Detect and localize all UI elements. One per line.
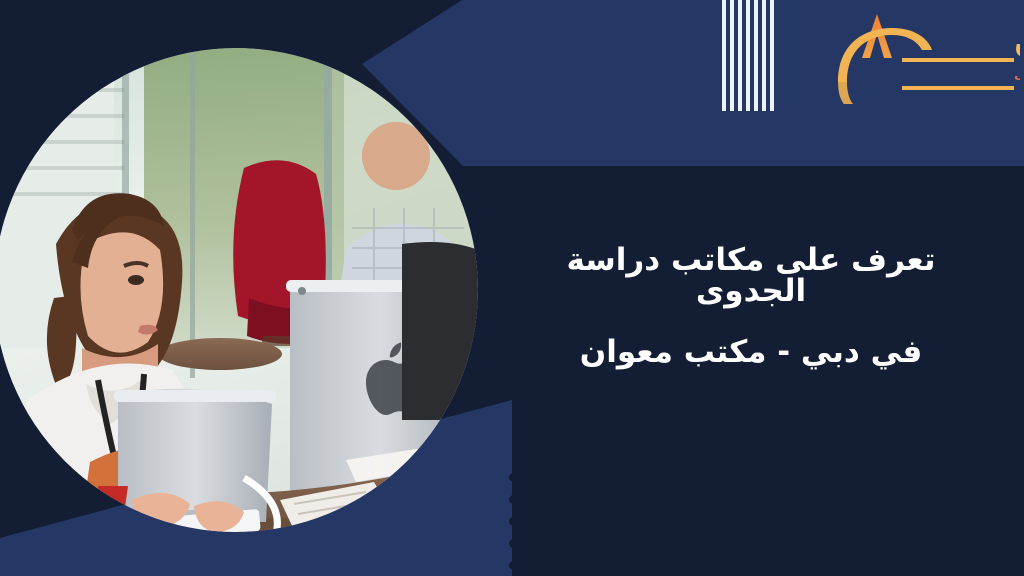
grid-dot: [597, 539, 606, 548]
brand-logo[interactable]: معوان لخدمات رجال الاعمال: [830, 4, 1020, 104]
logo-rule-top: [902, 58, 1014, 62]
logo-tagline: لخدمات رجال الاعمال: [1014, 67, 1020, 82]
headline-line-1: تعرف على مكاتب دراسة الجدوى: [516, 245, 986, 307]
grid-dot: [531, 473, 540, 482]
page-title: تعرف على مكاتب دراسة الجدوى في دبي - مكت…: [516, 245, 986, 368]
grid-dot: [597, 473, 606, 482]
dot-grid-decoration: [509, 473, 606, 570]
banner-canvas: معوان لخدمات رجال الاعمال تعرف على مكاتب…: [0, 0, 1024, 576]
grid-dot: [575, 561, 584, 570]
logo-brand-name: معوان: [1014, 21, 1020, 61]
decorative-bar: [754, 0, 758, 111]
decorative-bar: [746, 0, 750, 111]
grid-dot: [597, 517, 606, 526]
decorative-bar: [762, 0, 766, 111]
grid-dot: [531, 561, 540, 570]
hero-photo-svg: [0, 48, 478, 532]
grid-dot: [553, 495, 562, 504]
grid-dot: [509, 561, 518, 570]
brand-logo-svg: معوان لخدمات رجال الاعمال: [830, 4, 1020, 104]
decorative-bar: [770, 0, 774, 111]
decorative-bar: [730, 0, 734, 111]
grid-dot: [531, 539, 540, 548]
grid-dot: [553, 561, 562, 570]
decorative-bars: [722, 0, 774, 111]
grid-dot: [509, 473, 518, 482]
logo-swoosh-tail: [838, 82, 864, 104]
grid-dot: [553, 539, 562, 548]
grid-dot: [575, 517, 584, 526]
headline-line-2: في دبي - مكتب معوان: [516, 337, 986, 368]
grid-dot: [553, 473, 562, 482]
grid-dot: [575, 539, 584, 548]
grid-dot: [509, 495, 518, 504]
decorative-bar: [722, 0, 726, 111]
grid-dot: [575, 473, 584, 482]
grid-dot: [531, 495, 540, 504]
grid-dot: [553, 517, 562, 526]
logo-rule-bottom: [902, 86, 1014, 90]
grid-dot: [597, 561, 606, 570]
grid-dot: [509, 517, 518, 526]
grid-dot: [509, 539, 518, 548]
decorative-bar: [738, 0, 742, 111]
hero-photo: [0, 48, 478, 532]
grid-dot: [597, 495, 606, 504]
grid-dot: [531, 517, 540, 526]
grid-dot: [575, 495, 584, 504]
